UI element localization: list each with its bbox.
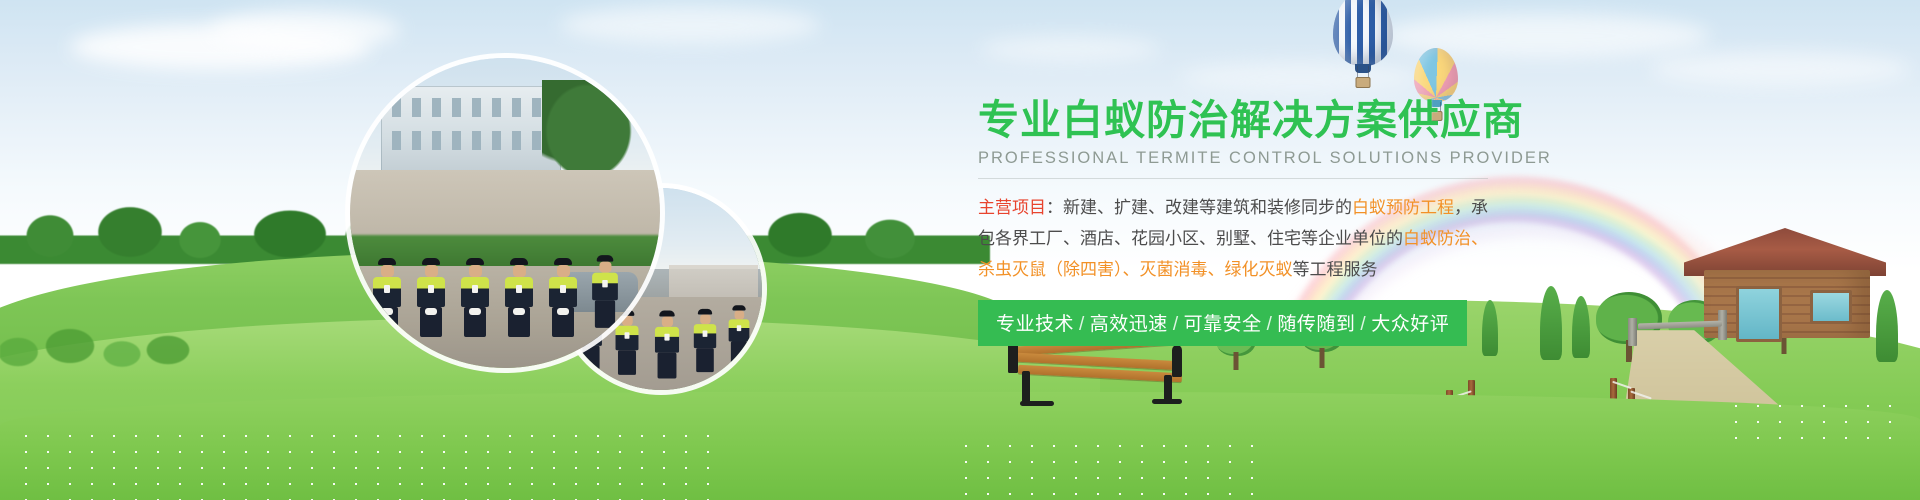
worker-legs	[731, 341, 747, 363]
photo-tree	[542, 80, 635, 173]
desc-colon: ：	[1046, 198, 1063, 217]
page-title: 专业白蚁防治解决方案供应商	[978, 100, 1498, 141]
cta-separator: /	[1262, 314, 1278, 335]
worker-face	[381, 265, 394, 277]
desc-line2-a: 各界工厂、酒店、花园小区、别墅、住宅等企业单位的	[995, 229, 1403, 248]
photo-worker	[728, 305, 750, 363]
desc-line3-highlight: 灭鼠（除四害）、灭菌消毒、绿化灭蚁	[1012, 260, 1293, 279]
bench-arm-right	[1172, 345, 1182, 377]
cta-item-4: 大众好评	[1371, 314, 1449, 335]
worker-legs	[658, 353, 677, 379]
hot-air-balloon-warm-icon	[1414, 48, 1458, 102]
photo-worker	[504, 258, 534, 337]
worker-cap	[554, 258, 572, 265]
cta-separator: /	[1074, 314, 1090, 335]
worker-face	[734, 310, 744, 319]
worker-legs	[595, 300, 615, 328]
desc-line3-b: 等工程服务	[1293, 260, 1378, 279]
photo-worker	[460, 258, 490, 337]
worker-badge	[664, 334, 669, 341]
cabin-window	[1810, 290, 1852, 324]
cta-item-0: 专业技术	[996, 314, 1074, 335]
team-lineup-photo	[350, 58, 660, 368]
cta-item-2: 可靠安全	[1184, 314, 1262, 335]
worker-face	[661, 317, 672, 327]
features-cta-bar[interactable]: 专业技术/高效迅速/可靠安全/随传随到/大众好评	[978, 300, 1467, 346]
photo-worker	[372, 258, 402, 337]
desc-line1-highlight: 白蚁预防工程	[1352, 198, 1454, 217]
photo-wall	[350, 170, 660, 244]
cloud	[1650, 52, 1910, 86]
cloud	[210, 10, 400, 50]
worker-face	[425, 265, 438, 277]
photo-building	[381, 86, 561, 173]
hot-air-balloon-blue-icon	[1333, 0, 1393, 66]
cta-separator: /	[1355, 314, 1371, 335]
worker-face	[700, 314, 710, 324]
photo-worker	[693, 309, 717, 372]
hero-banner: 专业白蚁防治解决方案供应商 PROFESSIONAL TERMITE CONTR…	[0, 0, 1920, 500]
desc-line1-a: 新建、扩建、改建等建筑和装修同步的	[1063, 198, 1352, 217]
worker-face	[557, 265, 570, 277]
left-shrubs	[0, 300, 330, 380]
balloon-envelope	[1333, 0, 1393, 66]
bench-foot-right	[1152, 399, 1182, 404]
worker-cap	[597, 255, 614, 261]
worker-badge	[384, 285, 390, 293]
service-description: 主营项目：新建、扩建、改建等建筑和装修同步的白蚁预防工程，承包各界工厂、酒店、花…	[978, 192, 1488, 285]
worker-face	[599, 261, 611, 272]
worker-cap	[466, 258, 484, 265]
photo-collage	[350, 58, 770, 388]
worker-badge	[428, 285, 434, 293]
worker-badge	[703, 330, 708, 336]
cloud	[1180, 62, 1420, 92]
cloud	[980, 36, 1160, 62]
daisy-field	[20, 430, 720, 500]
worker-cap	[378, 258, 396, 265]
worker-cap	[510, 258, 528, 265]
worker-gloves	[381, 308, 393, 315]
cta-separator: /	[1168, 314, 1184, 335]
cabin-roof	[1684, 228, 1886, 276]
worker-gloves	[557, 308, 569, 315]
balloon-basket	[1356, 77, 1371, 88]
balloon-envelope	[1414, 48, 1458, 102]
worker-gloves	[425, 308, 437, 315]
photo-worker	[591, 255, 619, 328]
photo-worker	[416, 258, 446, 337]
worker-badge	[560, 285, 566, 293]
bench-leg-left	[1022, 371, 1030, 405]
tree-trunk	[1320, 348, 1325, 368]
daisy-field	[1730, 400, 1910, 450]
cloud	[560, 6, 820, 44]
cta-item-3: 随传随到	[1277, 314, 1355, 335]
banner-copy: 专业白蚁防治解决方案供应商 PROFESSIONAL TERMITE CONTR…	[978, 100, 1498, 346]
worker-badge	[602, 280, 608, 287]
worker-face	[513, 265, 526, 277]
desc-label: 主营项目	[978, 198, 1046, 217]
cabin-door	[1736, 286, 1782, 342]
tree-trunk	[1234, 352, 1239, 370]
worker-legs	[696, 348, 714, 372]
worker-gloves	[513, 308, 525, 315]
bench-foot-left	[1020, 401, 1054, 406]
worker-badge	[737, 325, 741, 331]
worker-cap	[422, 258, 440, 265]
daisy-field	[960, 440, 1260, 500]
worker-gloves	[469, 308, 481, 315]
worker-face	[469, 265, 482, 277]
photo-worker	[548, 258, 578, 337]
subtitle-english: PROFESSIONAL TERMITE CONTROL SOLUTIONS P…	[978, 150, 1498, 167]
divider	[978, 178, 1488, 179]
fence-post-stone	[1628, 318, 1637, 346]
worker-badge	[472, 285, 478, 293]
worker-badge	[516, 285, 522, 293]
cta-item-1: 高效迅速	[1090, 314, 1168, 335]
